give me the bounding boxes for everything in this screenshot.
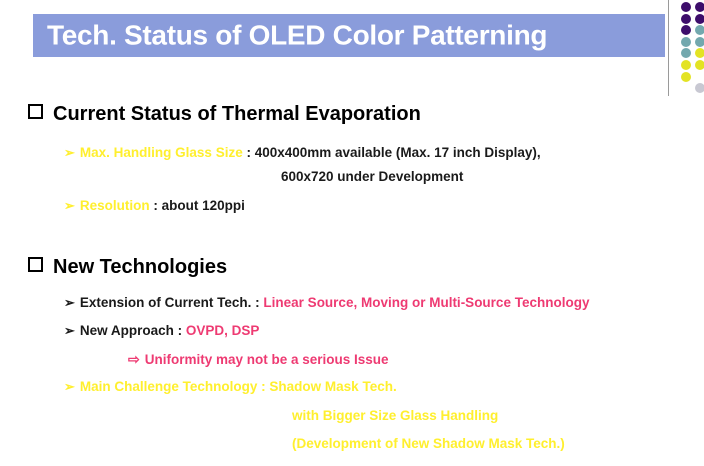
bullet-main-challenge-continuation-1: with Bigger Size Glass Handling <box>292 409 498 423</box>
item-value: Uniformity may not be a serious Issue <box>145 352 389 367</box>
decorative-dot <box>695 37 704 47</box>
decorative-dot <box>695 83 704 93</box>
bullet-max-handling-glass-size: ➢Max. Handling Glass Size : 400x400mm av… <box>64 146 541 160</box>
item-value: Linear Source, Moving or Multi-Source Te… <box>263 295 589 310</box>
decorative-dot <box>695 72 704 82</box>
arrow-bullet-icon: ➢ <box>64 380 75 393</box>
decorative-dot-grid <box>681 2 704 96</box>
decorative-dot <box>695 25 704 35</box>
bullet-main-challenge-technology: ➢Main Challenge Technology : Shadow Mask… <box>64 380 397 394</box>
bullet-new-approach: ➢New Approach : OVPD, DSP <box>64 324 259 338</box>
bullet-extension-of-current-tech: ➢Extension of Current Tech. : Linear Sou… <box>64 296 589 310</box>
item-label: New Approach : <box>80 323 186 338</box>
section-heading-new-technologies: New Technologies <box>28 256 227 279</box>
arrow-bullet-icon: ➢ <box>64 146 75 159</box>
decorative-dot <box>695 2 704 12</box>
section-heading-current-status: Current Status of Thermal Evaporation <box>28 103 421 126</box>
decorative-dot <box>681 2 691 12</box>
decorative-dot <box>681 25 691 35</box>
header-divider-rule <box>668 0 669 96</box>
decorative-dot <box>681 37 691 47</box>
hollow-square-bullet-icon <box>28 257 43 272</box>
item-label: Max. Handling Glass Size <box>80 145 243 160</box>
arrow-bullet-icon: ➢ <box>64 199 75 212</box>
item-separator: : <box>150 198 162 213</box>
hollow-square-bullet-icon <box>28 104 43 119</box>
slide-body: Current Status of Thermal Evaporation ➢M… <box>0 0 704 466</box>
decorative-dot <box>695 60 704 70</box>
item-label: Extension of Current Tech. : <box>80 295 264 310</box>
decorative-dot <box>681 72 691 82</box>
decorative-dot <box>681 60 691 70</box>
decorative-dot <box>681 83 691 93</box>
item-label: Main Challenge Technology : Shadow Mask … <box>80 379 397 394</box>
bullet-resolution: ➢Resolution : about 120ppi <box>64 199 245 213</box>
decorative-dot <box>695 48 704 58</box>
item-label: Resolution <box>80 198 150 213</box>
decorative-dot <box>681 48 691 58</box>
item-separator: : <box>243 145 255 160</box>
bullet-main-challenge-continuation-2: (Development of New Shadow Mask Tech.) <box>292 437 565 451</box>
item-value: 400x400mm available (Max. 17 inch Displa… <box>255 145 541 160</box>
section-heading-text: Current Status of Thermal Evaporation <box>53 103 421 125</box>
decorative-dot <box>681 14 691 24</box>
bullet-uniformity-note: ⇨Uniformity may not be a serious Issue <box>128 352 389 367</box>
section-heading-text: New Technologies <box>53 256 227 278</box>
arrow-bullet-icon: ➢ <box>64 324 75 337</box>
arrow-bullet-icon: ➢ <box>64 296 75 309</box>
slide-title-bar: Tech. Status of OLED Color Patterning <box>33 14 665 57</box>
double-arrow-bullet-icon: ⇨ <box>128 352 140 366</box>
slide-title: Tech. Status of OLED Color Patterning <box>47 19 547 51</box>
bullet-max-handling-glass-size-continuation: 600x720 under Development <box>281 170 463 184</box>
item-value: OVPD, DSP <box>186 323 260 338</box>
decorative-dot <box>695 14 704 24</box>
item-value: about 120ppi <box>162 198 245 213</box>
